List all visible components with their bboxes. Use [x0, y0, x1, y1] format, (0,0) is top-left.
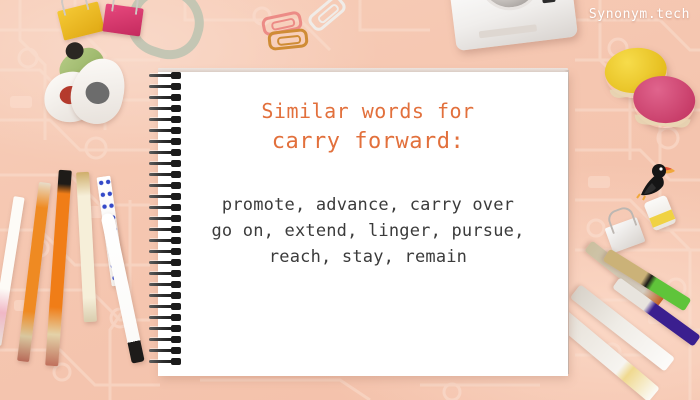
toucan-sticker-icon [632, 155, 680, 203]
site-logo: Synonym.tech [589, 7, 690, 22]
synonym-card-image: Similar words for carry forward: promote… [0, 0, 700, 400]
synonyms-line-3: reach, stay, remain [178, 244, 558, 270]
synonyms-line-1: promote, advance, carry over [178, 192, 558, 218]
synonyms-line-2: go on, extend, linger, pursue, [178, 218, 558, 244]
notebook-text-block: Similar words for carry forward: promote… [178, 82, 558, 270]
synonyms-list: promote, advance, carry over go on, exte… [178, 192, 558, 270]
title-line-1: Similar words for [178, 96, 558, 126]
title-line-2: carry forward: [178, 126, 558, 158]
camera-lens-icon [475, 0, 544, 14]
binder-clip-pink [102, 3, 144, 36]
camera-button-icon [541, 0, 555, 3]
